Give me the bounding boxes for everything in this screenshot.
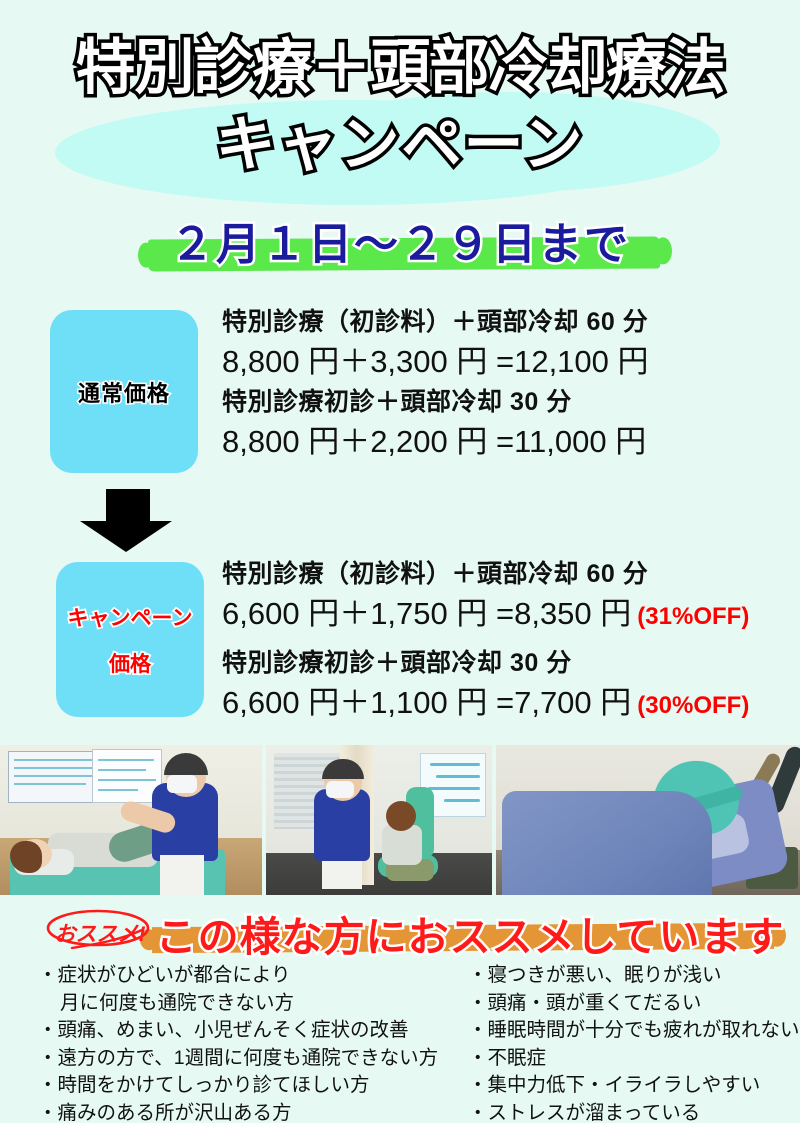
list-item: ・症状がひどいが都合により [38,962,438,990]
campaign-price-label-line2: 価格 [109,648,151,678]
campaign-price-box: キャンペーン 価格 [56,562,204,717]
list-item: ・時間をかけてしっかり診てほしい方 [38,1072,438,1100]
list-item: ・遠方の方で、1週間に何度も通院できない方 [38,1045,438,1073]
list-item: ・睡眠時間が十分でも疲れが取れない [468,1017,800,1045]
list-item: ・寝つきが悪い、眠りが浅い [468,962,800,990]
plan-price: 6,600 円＋1,750 円 =8,350 円 [222,596,631,631]
list-item: ・不眠症 [468,1045,800,1073]
plan-name: 特別診療（初診料）＋頭部冷却 60 分 [222,557,749,591]
photo-manual-therapy-leg [0,745,262,895]
plan-price: 8,800 円＋3,300 円 =12,100 円 [222,339,649,385]
list-item: ・頭痛、めまい、小児ぜんそく症状の改善 [38,1017,438,1045]
plan-price: 6,600 円＋1,100 円 =7,700 円 [222,685,631,720]
list-item: ・集中力低下・イライラしやすい [468,1072,800,1100]
recommend-bullets-right: ・寝つきが悪い、眠りが浅い ・頭痛・頭が重くてだるい ・睡眠時間が十分でも疲れが… [468,962,800,1123]
list-item: ・痛みのある所が沢山ある方 [38,1100,438,1123]
photo-seated-treatment [266,745,492,895]
discount-badge: (31%OFF) [637,603,749,630]
list-item: ・ストレスが溜まっている [468,1100,800,1123]
campaign-price-label-line1: キャンペーン [68,602,193,632]
plan-price: 8,800 円＋2,200 円 =11,000 円 [222,419,649,465]
promo-poster: 特別診療＋頭部冷却療法 キャンペーン ２月１日〜２９日まで 通常価格 特別診療（… [0,0,800,1123]
normal-price-label: 通常価格 [78,376,170,408]
clinic-photo-strip [0,745,800,895]
plan-price-row: 6,600 円＋1,750 円 =8,350 円(31%OFF) [222,591,749,640]
plan-name: 特別診療初診＋頭部冷却 30 分 [222,646,749,680]
recommend-title: この様な方におススメしています [150,903,790,963]
recommend-badge: おススメ! [42,908,158,954]
list-item: 月に何度も通院できない方 [38,990,438,1018]
list-item: ・頭痛・頭が重くてだるい [468,990,800,1018]
poster-title-sub: キャンペーン [0,110,800,180]
plan-name: 特別診療初診＋頭部冷却 30 分 [222,385,649,419]
arrow-stem [106,489,150,523]
normal-price-lines: 特別診療（初診料）＋頭部冷却 60 分 8,800 円＋3,300 円 =12,… [222,305,649,465]
recommend-bullets-left: ・症状がひどいが都合により 月に何度も通院できない方 ・頭痛、めまい、小児ぜんそ… [38,962,438,1123]
discount-badge: (30%OFF) [637,692,749,719]
arrow-head [80,521,172,552]
plan-name: 特別診療（初診料）＋頭部冷却 60 分 [222,305,649,339]
plan-price-row: 6,600 円＋1,100 円 =7,700 円(30%OFF) [222,680,749,729]
photo-head-cooling-device [496,745,800,895]
down-arrow-icon [80,489,172,551]
normal-price-box: 通常価格 [50,310,198,473]
campaign-date-range: ２月１日〜２９日まで [0,208,800,272]
poster-title-main: 特別診療＋頭部冷却療法 [0,33,800,103]
campaign-price-lines: 特別診療（初診料）＋頭部冷却 60 分 6,600 円＋1,750 円 =8,3… [222,557,749,729]
recommend-badge-label: おススメ! [42,918,158,948]
